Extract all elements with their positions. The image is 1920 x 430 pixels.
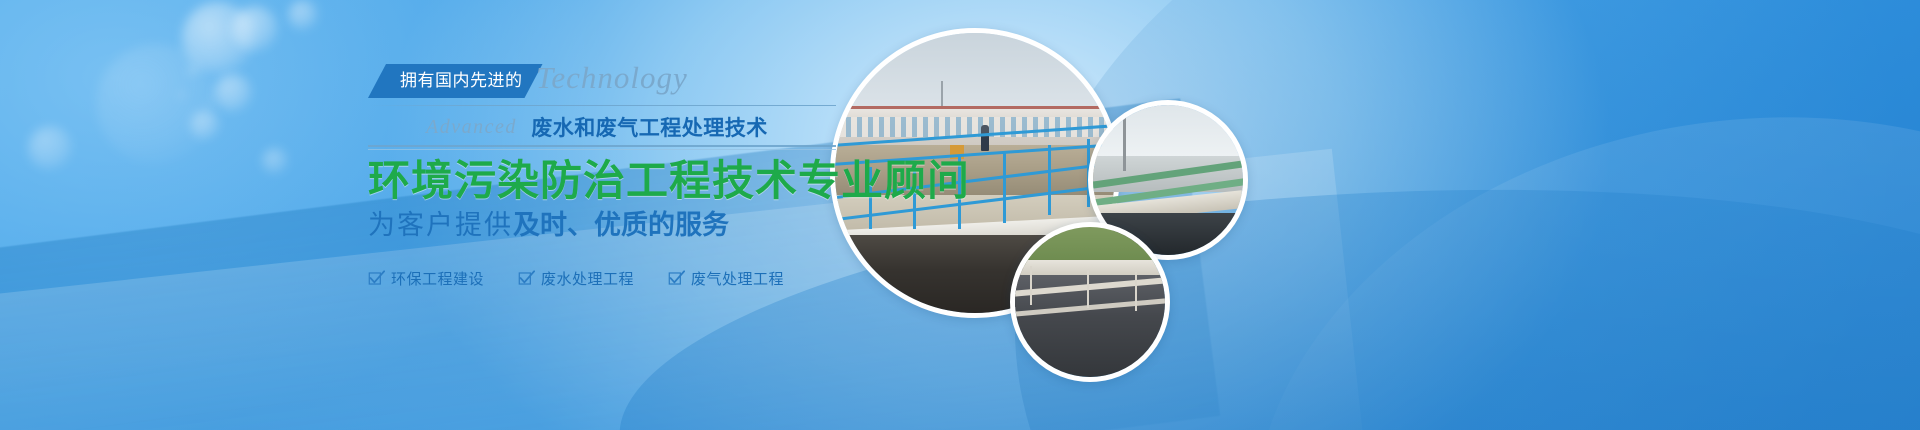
feature-item-2[interactable]: 废气处理工程 bbox=[668, 268, 784, 289]
bokeh-bubble bbox=[178, 92, 185, 99]
feature-item-0[interactable]: 环保工程建设 bbox=[368, 268, 484, 289]
subtitle-advanced-word: Advanced bbox=[426, 116, 517, 138]
bokeh-bubble bbox=[182, 2, 254, 74]
promo-banner: 拥有国内先进的 Technology Advanced 废水和废气工程处理技术 … bbox=[0, 0, 1920, 430]
feature-label-0: 环保工程建设 bbox=[391, 268, 484, 289]
feature-list: 环保工程建设 废水处理工程 废气处理工程 bbox=[368, 268, 838, 289]
tagline-technology-word: Technology bbox=[536, 60, 688, 96]
bokeh-bubble bbox=[28, 126, 72, 170]
divider-under-subtitle-thin bbox=[368, 149, 836, 150]
feature-label-2: 废气处理工程 bbox=[691, 268, 784, 289]
subtitle-row: Advanced 废水和废气工程处理技术 bbox=[368, 112, 838, 146]
tagline-ribbon: 拥有国内先进的 bbox=[368, 64, 543, 98]
check-icon bbox=[668, 270, 685, 287]
bokeh-bubble bbox=[232, 6, 278, 52]
photo-sedimentation-tank bbox=[1010, 222, 1170, 382]
subheadline-lead: 为客户提供 bbox=[368, 210, 513, 240]
page-title: 环境污染防治工程技术专业顾问 bbox=[368, 158, 838, 203]
banner-text-block: 拥有国内先进的 Technology Advanced 废水和废气工程处理技术 … bbox=[368, 64, 838, 289]
photo-cluster bbox=[820, 0, 1460, 430]
subtitle-chinese: 废水和废气工程处理技术 bbox=[531, 117, 768, 140]
bokeh-bubble bbox=[262, 148, 288, 174]
bokeh-bubble bbox=[214, 74, 252, 112]
bokeh-bubble bbox=[96, 44, 216, 164]
divider-under-subtitle bbox=[368, 145, 836, 147]
bokeh-bubble bbox=[206, 100, 212, 106]
subheadline: 为客户提供及时、优质的服务 bbox=[368, 209, 838, 241]
divider-under-technology bbox=[368, 105, 836, 106]
tagline-row: 拥有国内先进的 Technology bbox=[368, 64, 838, 104]
feature-label-1: 废水处理工程 bbox=[541, 268, 634, 289]
bokeh-bubble bbox=[288, 0, 318, 30]
feature-item-1[interactable]: 废水处理工程 bbox=[518, 268, 634, 289]
bokeh-bubble bbox=[188, 66, 198, 76]
check-icon bbox=[368, 270, 385, 287]
bokeh-bubble bbox=[190, 110, 220, 140]
check-icon bbox=[518, 270, 535, 287]
subheadline-emphasis: 及时、优质的服务 bbox=[513, 210, 729, 240]
